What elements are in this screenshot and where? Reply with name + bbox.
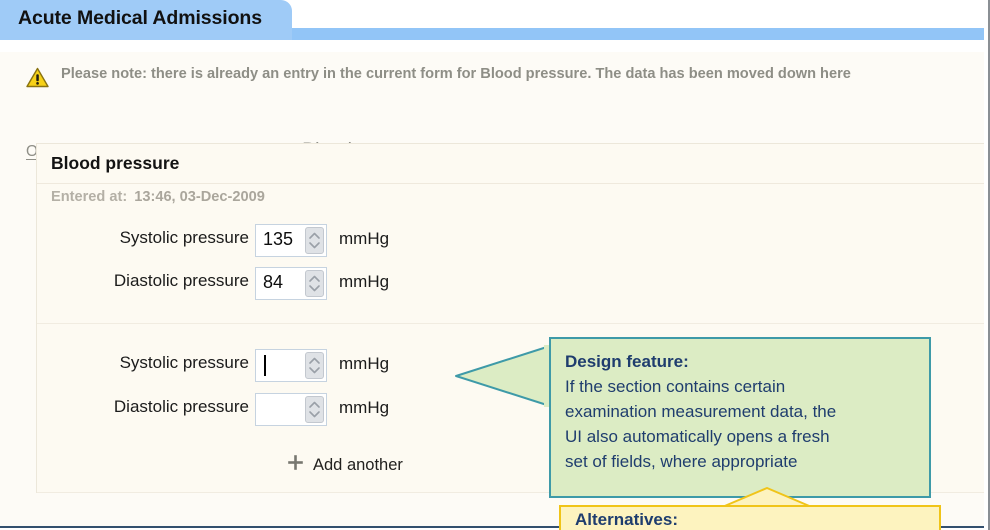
plus-icon xyxy=(287,454,304,476)
panel-header-divider xyxy=(37,183,984,184)
callout-tail-icon xyxy=(454,345,551,412)
notice-row: Please note: there is already an entry i… xyxy=(26,66,966,92)
entered-at: Entered at:13:46, 03-Dec-2009 xyxy=(51,189,265,205)
spinner-buttons[interactable] xyxy=(305,227,324,254)
spinner-buttons[interactable] xyxy=(305,352,324,379)
notice-text: Please note: there is already an entry i… xyxy=(61,66,851,82)
page-top-spacer xyxy=(0,40,984,52)
callout-line-4: set of fields, where appropriate xyxy=(565,449,917,474)
tab-acute-medical-admissions[interactable]: Acute Medical Admissions xyxy=(0,0,292,40)
unit-label: mmHg xyxy=(339,229,389,249)
unit-label: mmHg xyxy=(339,398,389,418)
callout-content: Design feature: If the section contains … xyxy=(565,349,917,474)
entered-at-label: Entered at: xyxy=(51,189,127,205)
unit-label: mmHg xyxy=(339,272,389,292)
panel-title: Blood pressure xyxy=(51,153,179,174)
systolic-spinner-1[interactable]: 135 xyxy=(255,224,327,257)
callout-design-feature: Design feature: If the section contains … xyxy=(549,337,931,498)
add-another-label: Add another xyxy=(313,456,403,475)
field-row-systolic-1: Systolic pressure 135 mmHg xyxy=(37,224,507,258)
field-row-diastolic-1: Diastolic pressure 84 mmHg xyxy=(37,267,507,301)
systolic-spinner-2[interactable] xyxy=(255,349,327,382)
callout-line-2: examination measurement data, the xyxy=(565,399,917,424)
callout-alternatives: Alternatives: xyxy=(559,487,941,530)
field-label: Systolic pressure xyxy=(120,228,249,248)
entered-at-value: 13:46, 03-Dec-2009 xyxy=(127,189,265,205)
spinner-buttons[interactable] xyxy=(305,270,324,297)
application-window: Acute Medical Admissions Please note: th… xyxy=(0,0,990,530)
systolic-value-1: 135 xyxy=(263,229,293,250)
callout-title: Alternatives: xyxy=(575,510,678,530)
unit-label: mmHg xyxy=(339,354,389,374)
field-label: Diastolic pressure xyxy=(114,271,249,291)
warning-triangle-icon xyxy=(26,67,49,88)
field-row-diastolic-2: Diastolic pressure mmHg xyxy=(37,393,507,427)
diastolic-spinner-2[interactable] xyxy=(255,393,327,426)
add-another-button[interactable]: Add another xyxy=(287,453,403,477)
callout-line-1: If the section contains certain xyxy=(565,374,917,399)
callout-line-3: UI also automatically opens a fresh xyxy=(565,424,917,449)
field-label: Diastolic pressure xyxy=(114,397,249,417)
tab-label: Acute Medical Admissions xyxy=(18,7,262,30)
diastolic-value-1: 84 xyxy=(263,272,283,293)
diastolic-spinner-1[interactable]: 84 xyxy=(255,267,327,300)
tab-strip: Acute Medical Admissions xyxy=(0,0,990,40)
text-caret xyxy=(264,355,266,376)
field-row-systolic-2: Systolic pressure mmHg xyxy=(37,349,507,383)
spinner-buttons[interactable] xyxy=(305,396,324,423)
callout-title: Design feature: xyxy=(565,349,917,374)
group-divider xyxy=(37,323,984,324)
field-label: Systolic pressure xyxy=(120,353,249,373)
